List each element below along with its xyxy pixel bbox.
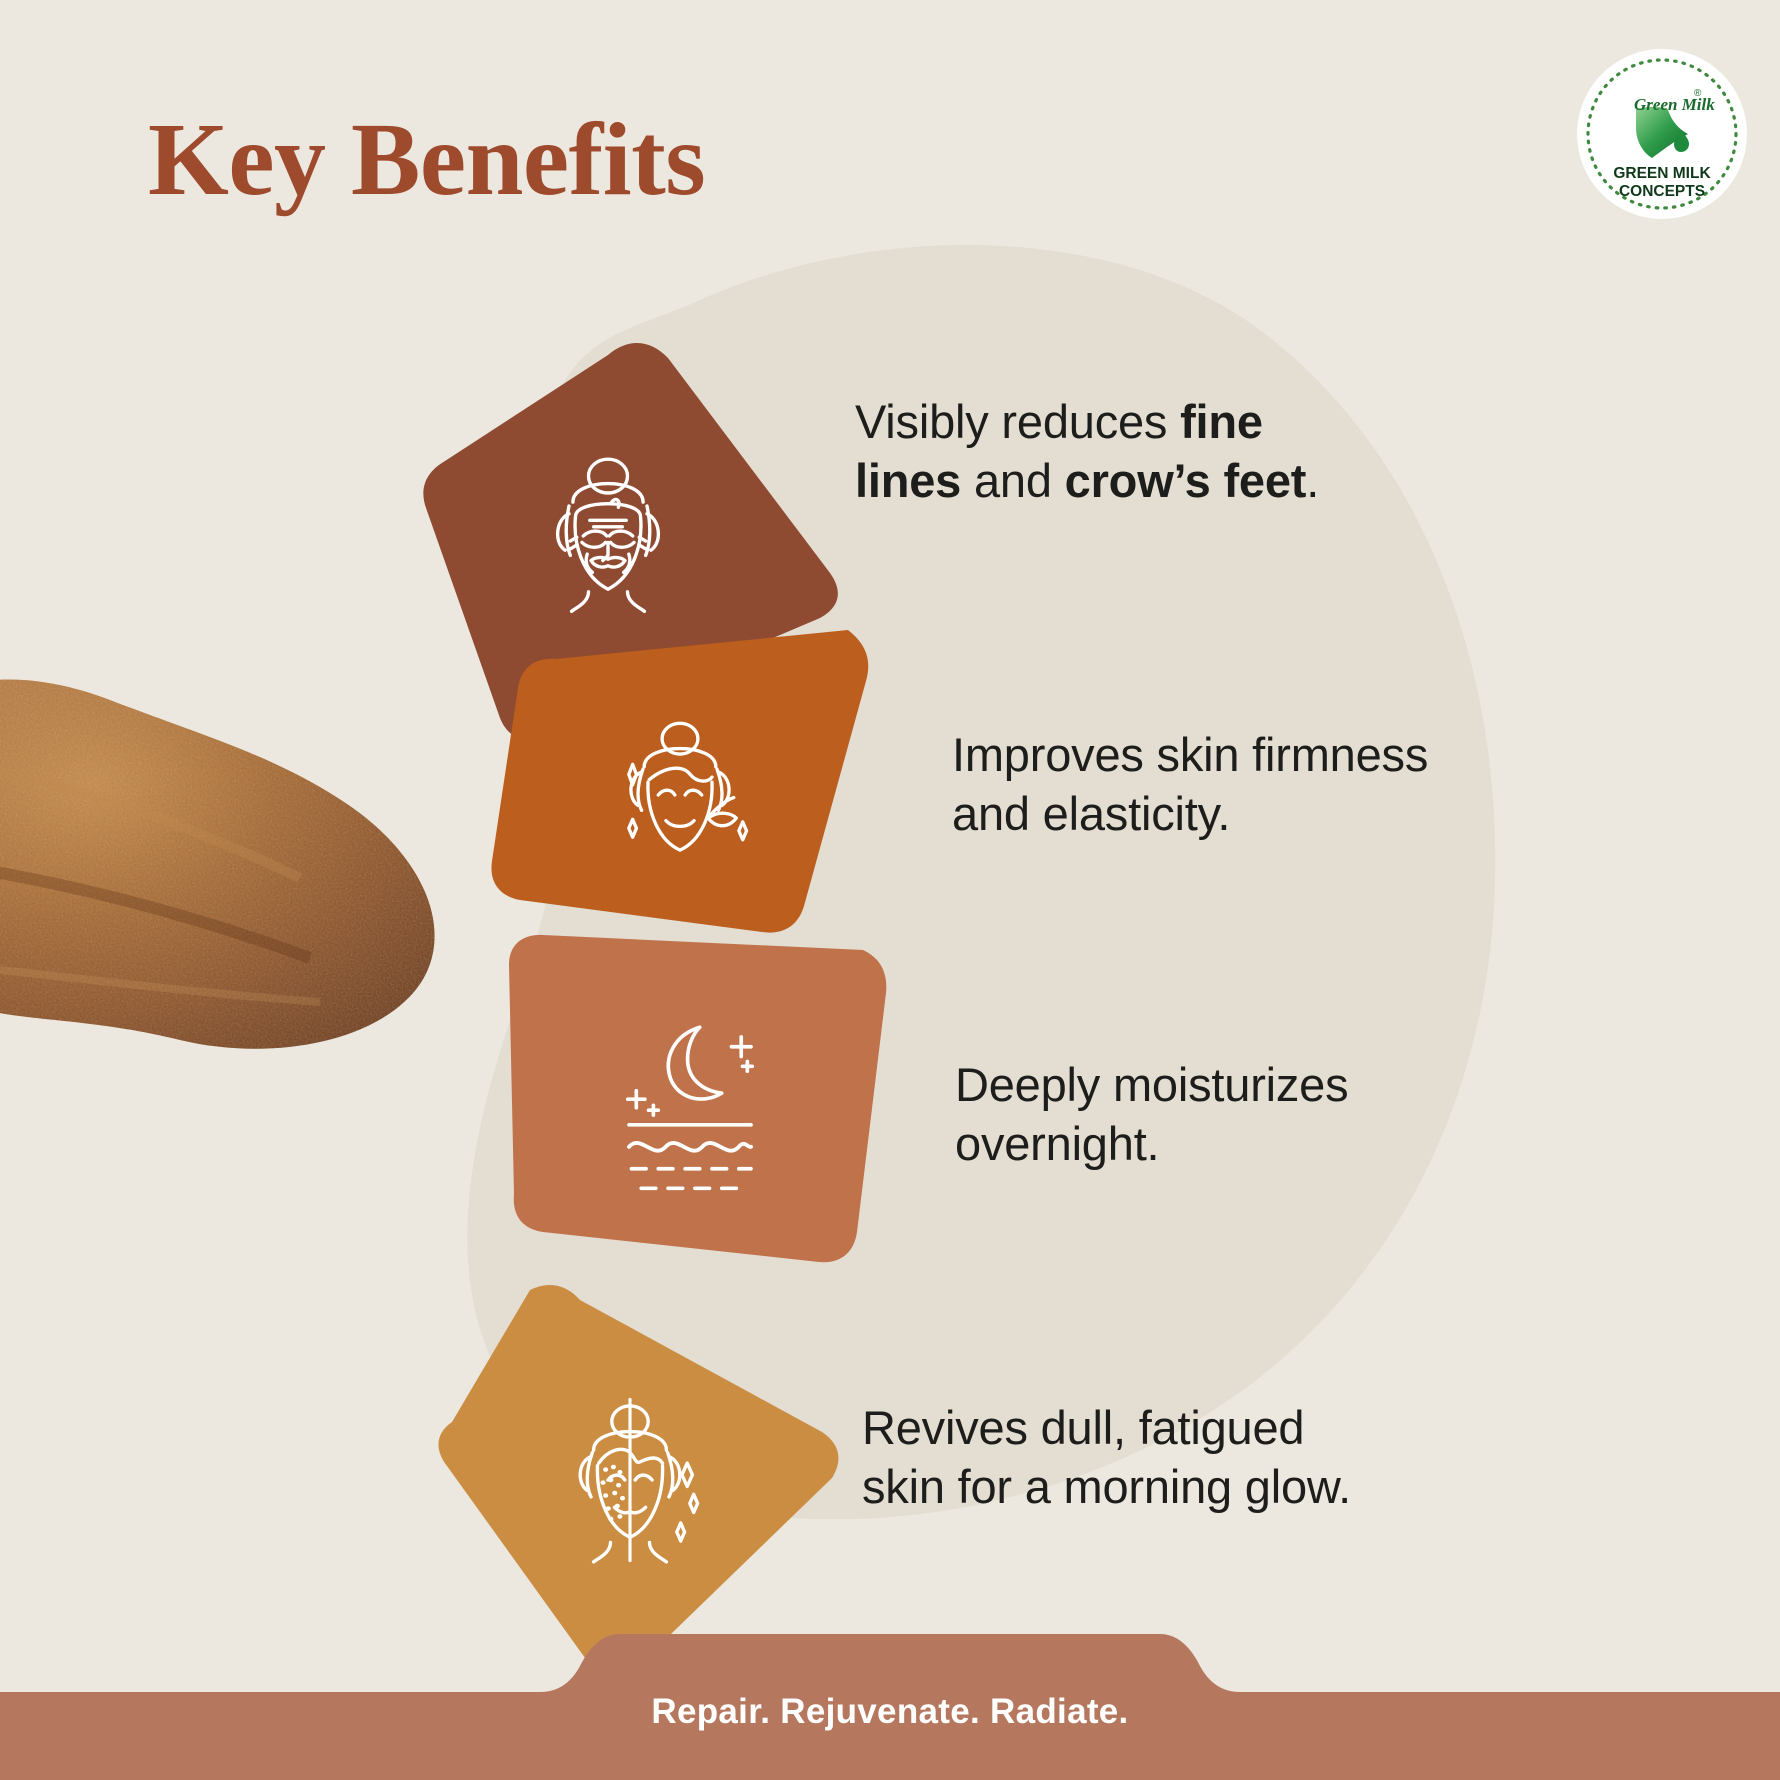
footer-band [0,1596,1780,1780]
footer-tagline: Repair. Rejuvenate. Radiate. [0,1692,1780,1732]
logo-name-line-2: CONCEPTS [1619,183,1705,200]
benefit-text-2: Improves skin firmness and elasticity. [952,725,1512,843]
brand-logo: Green Milk ® GREEN MILK CONCEPTS [1576,48,1748,220]
benefit-text-4: Revives dull, fatigued skin for a mornin… [862,1398,1432,1516]
benefit-tile-2[interactable] [491,630,868,933]
logo-name-line-1: GREEN MILK [1613,165,1711,182]
page-title: Key Benefits [148,108,705,212]
benefit-text-1: Visibly reduces fine lines and crow’s fe… [855,392,1375,510]
benefit-tile-3[interactable] [509,935,886,1262]
logo-script-text: Green Milk [1634,95,1715,114]
benefit-text-3: Deeply moisturizes overnight. [955,1055,1455,1173]
infographic-canvas: Key Benefits Green Milk ® GREEN MILK CON… [0,0,1780,1780]
registered-mark-icon: ® [1694,88,1702,99]
